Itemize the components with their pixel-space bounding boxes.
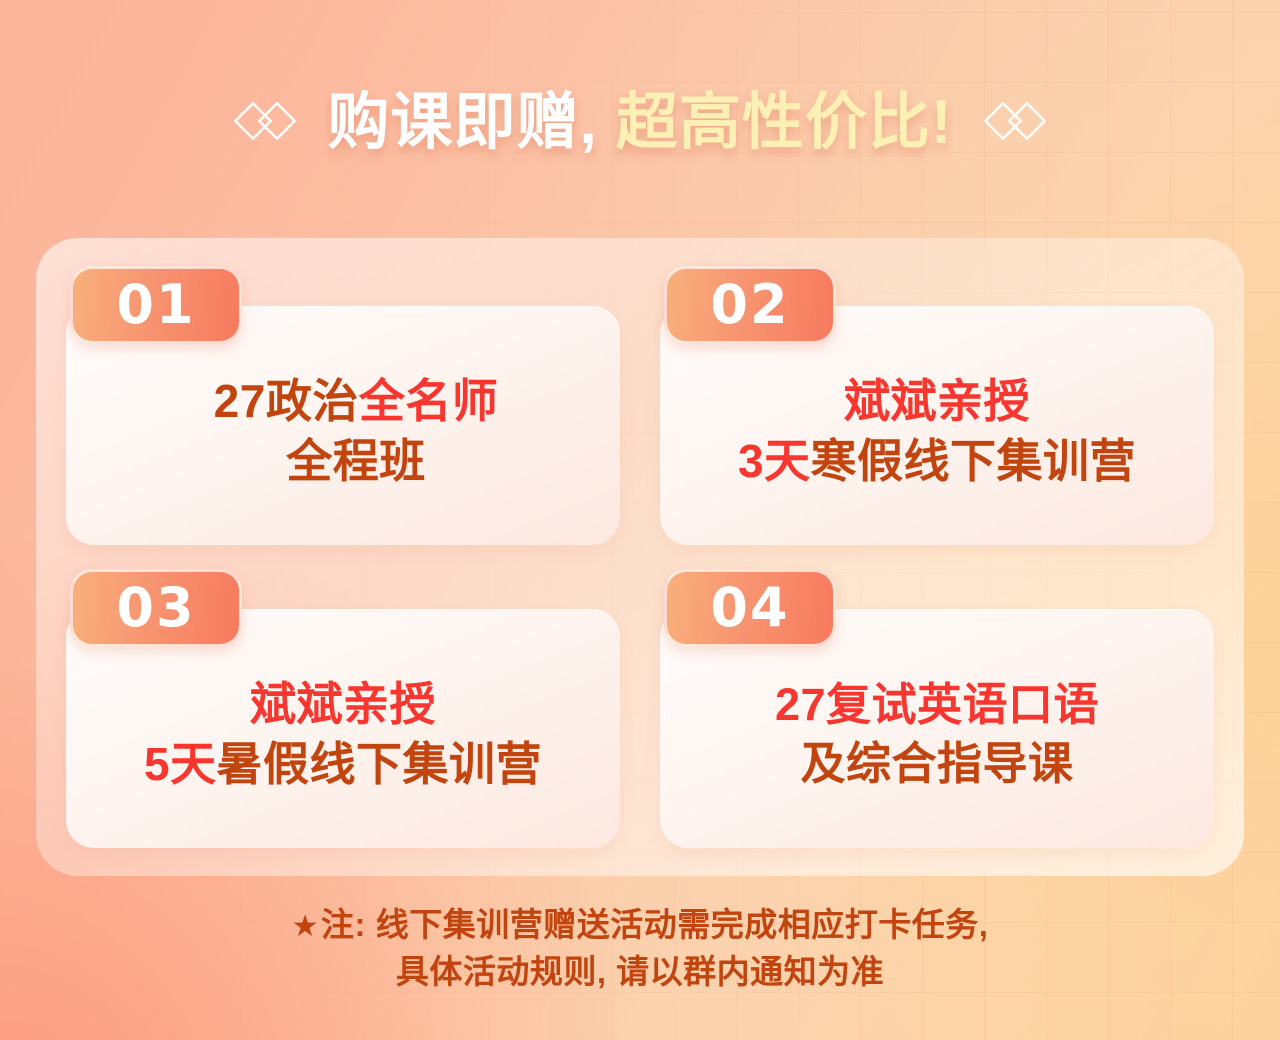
card-text-line: 27复试英语口语 <box>775 676 1099 735</box>
page-title-primary: 购课即赠, <box>327 88 615 157</box>
page-title-highlight: 超高性价比! <box>616 88 953 157</box>
double-diamond-icon-right <box>983 99 1047 147</box>
card-text-segment: 全名师 <box>359 375 499 427</box>
card-number-text: 03 <box>116 581 195 635</box>
card-text-line: 斌斌亲授 <box>738 372 1136 432</box>
page-title: 购课即赠, 超高性价比! <box>327 92 952 154</box>
benefit-card[interactable]: 02斌斌亲授3天寒假线下集训营 <box>652 260 1222 551</box>
benefit-card[interactable]: 0427复试英语口语及综合指导课 <box>652 563 1222 854</box>
card-text-segment: 27政治 <box>214 375 359 427</box>
card-number-text: 02 <box>710 278 789 332</box>
footnote-line-1-text: 注: 线下集训营赠送活动需完成相应打卡任务, <box>321 906 988 943</box>
footnote: ★注: 线下集训营赠送活动需完成相应打卡任务, 具体活动规则, 请以群内通知为准 <box>0 902 1280 996</box>
card-text-segment: 5天 <box>144 738 217 790</box>
card-text-block: 斌斌亲授3天寒假线下集训营 <box>712 372 1162 498</box>
card-text-segment: 斌斌亲授 <box>250 678 436 730</box>
card-text-line: 及综合指导课 <box>775 735 1099 794</box>
card-text-block: 斌斌亲授5天暑假线下集训营 <box>118 675 568 801</box>
double-diamond-icon-left <box>233 99 297 147</box>
card-number-text: 04 <box>710 581 789 635</box>
card-number-badge: 04 <box>664 569 836 647</box>
benefit-card[interactable]: 03斌斌亲授5天暑假线下集训营 <box>58 563 628 854</box>
header: 购课即赠, 超高性价比! <box>0 78 1280 168</box>
card-text-segment: 27复试英语口语 <box>775 679 1099 730</box>
card-text-block: 27复试英语口语及综合指导课 <box>749 676 1125 799</box>
card-text-segment: 3天 <box>738 435 811 487</box>
benefit-card[interactable]: 0127政治全名师全程班 <box>58 260 628 551</box>
card-number-badge: 03 <box>70 569 242 647</box>
card-text-line: 5天暑假线下集训营 <box>144 735 542 795</box>
card-text-segment: 及综合指导课 <box>800 738 1073 789</box>
promo-poster: 购课即赠, 超高性价比! 0127政治全名师全程班02斌斌亲授3天寒假线下集训营… <box>0 0 1280 1040</box>
benefit-cards-grid: 0127政治全名师全程班02斌斌亲授3天寒假线下集训营03斌斌亲授5天暑假线下集… <box>36 238 1244 876</box>
card-text-segment: 斌斌亲授 <box>844 375 1030 427</box>
footnote-line-1: ★注: 线下集训营赠送活动需完成相应打卡任务, <box>0 902 1280 949</box>
card-text-segment: 暑假线下集训营 <box>217 738 543 790</box>
card-number-badge: 02 <box>664 266 836 344</box>
card-text-line: 全程班 <box>214 432 499 492</box>
card-text-block: 27政治全名师全程班 <box>162 372 525 498</box>
card-number-text: 01 <box>116 278 195 332</box>
card-text-line: 27政治全名师 <box>214 372 499 432</box>
card-text-segment: 全程班 <box>286 435 426 487</box>
footnote-line-2: 具体活动规则, 请以群内通知为准 <box>0 949 1280 996</box>
card-text-line: 3天寒假线下集训营 <box>738 432 1136 492</box>
card-text-segment: 寒假线下集训营 <box>811 435 1137 487</box>
card-text-line: 斌斌亲授 <box>144 675 542 735</box>
card-number-badge: 01 <box>70 266 242 344</box>
star-icon: ★ <box>292 910 319 943</box>
